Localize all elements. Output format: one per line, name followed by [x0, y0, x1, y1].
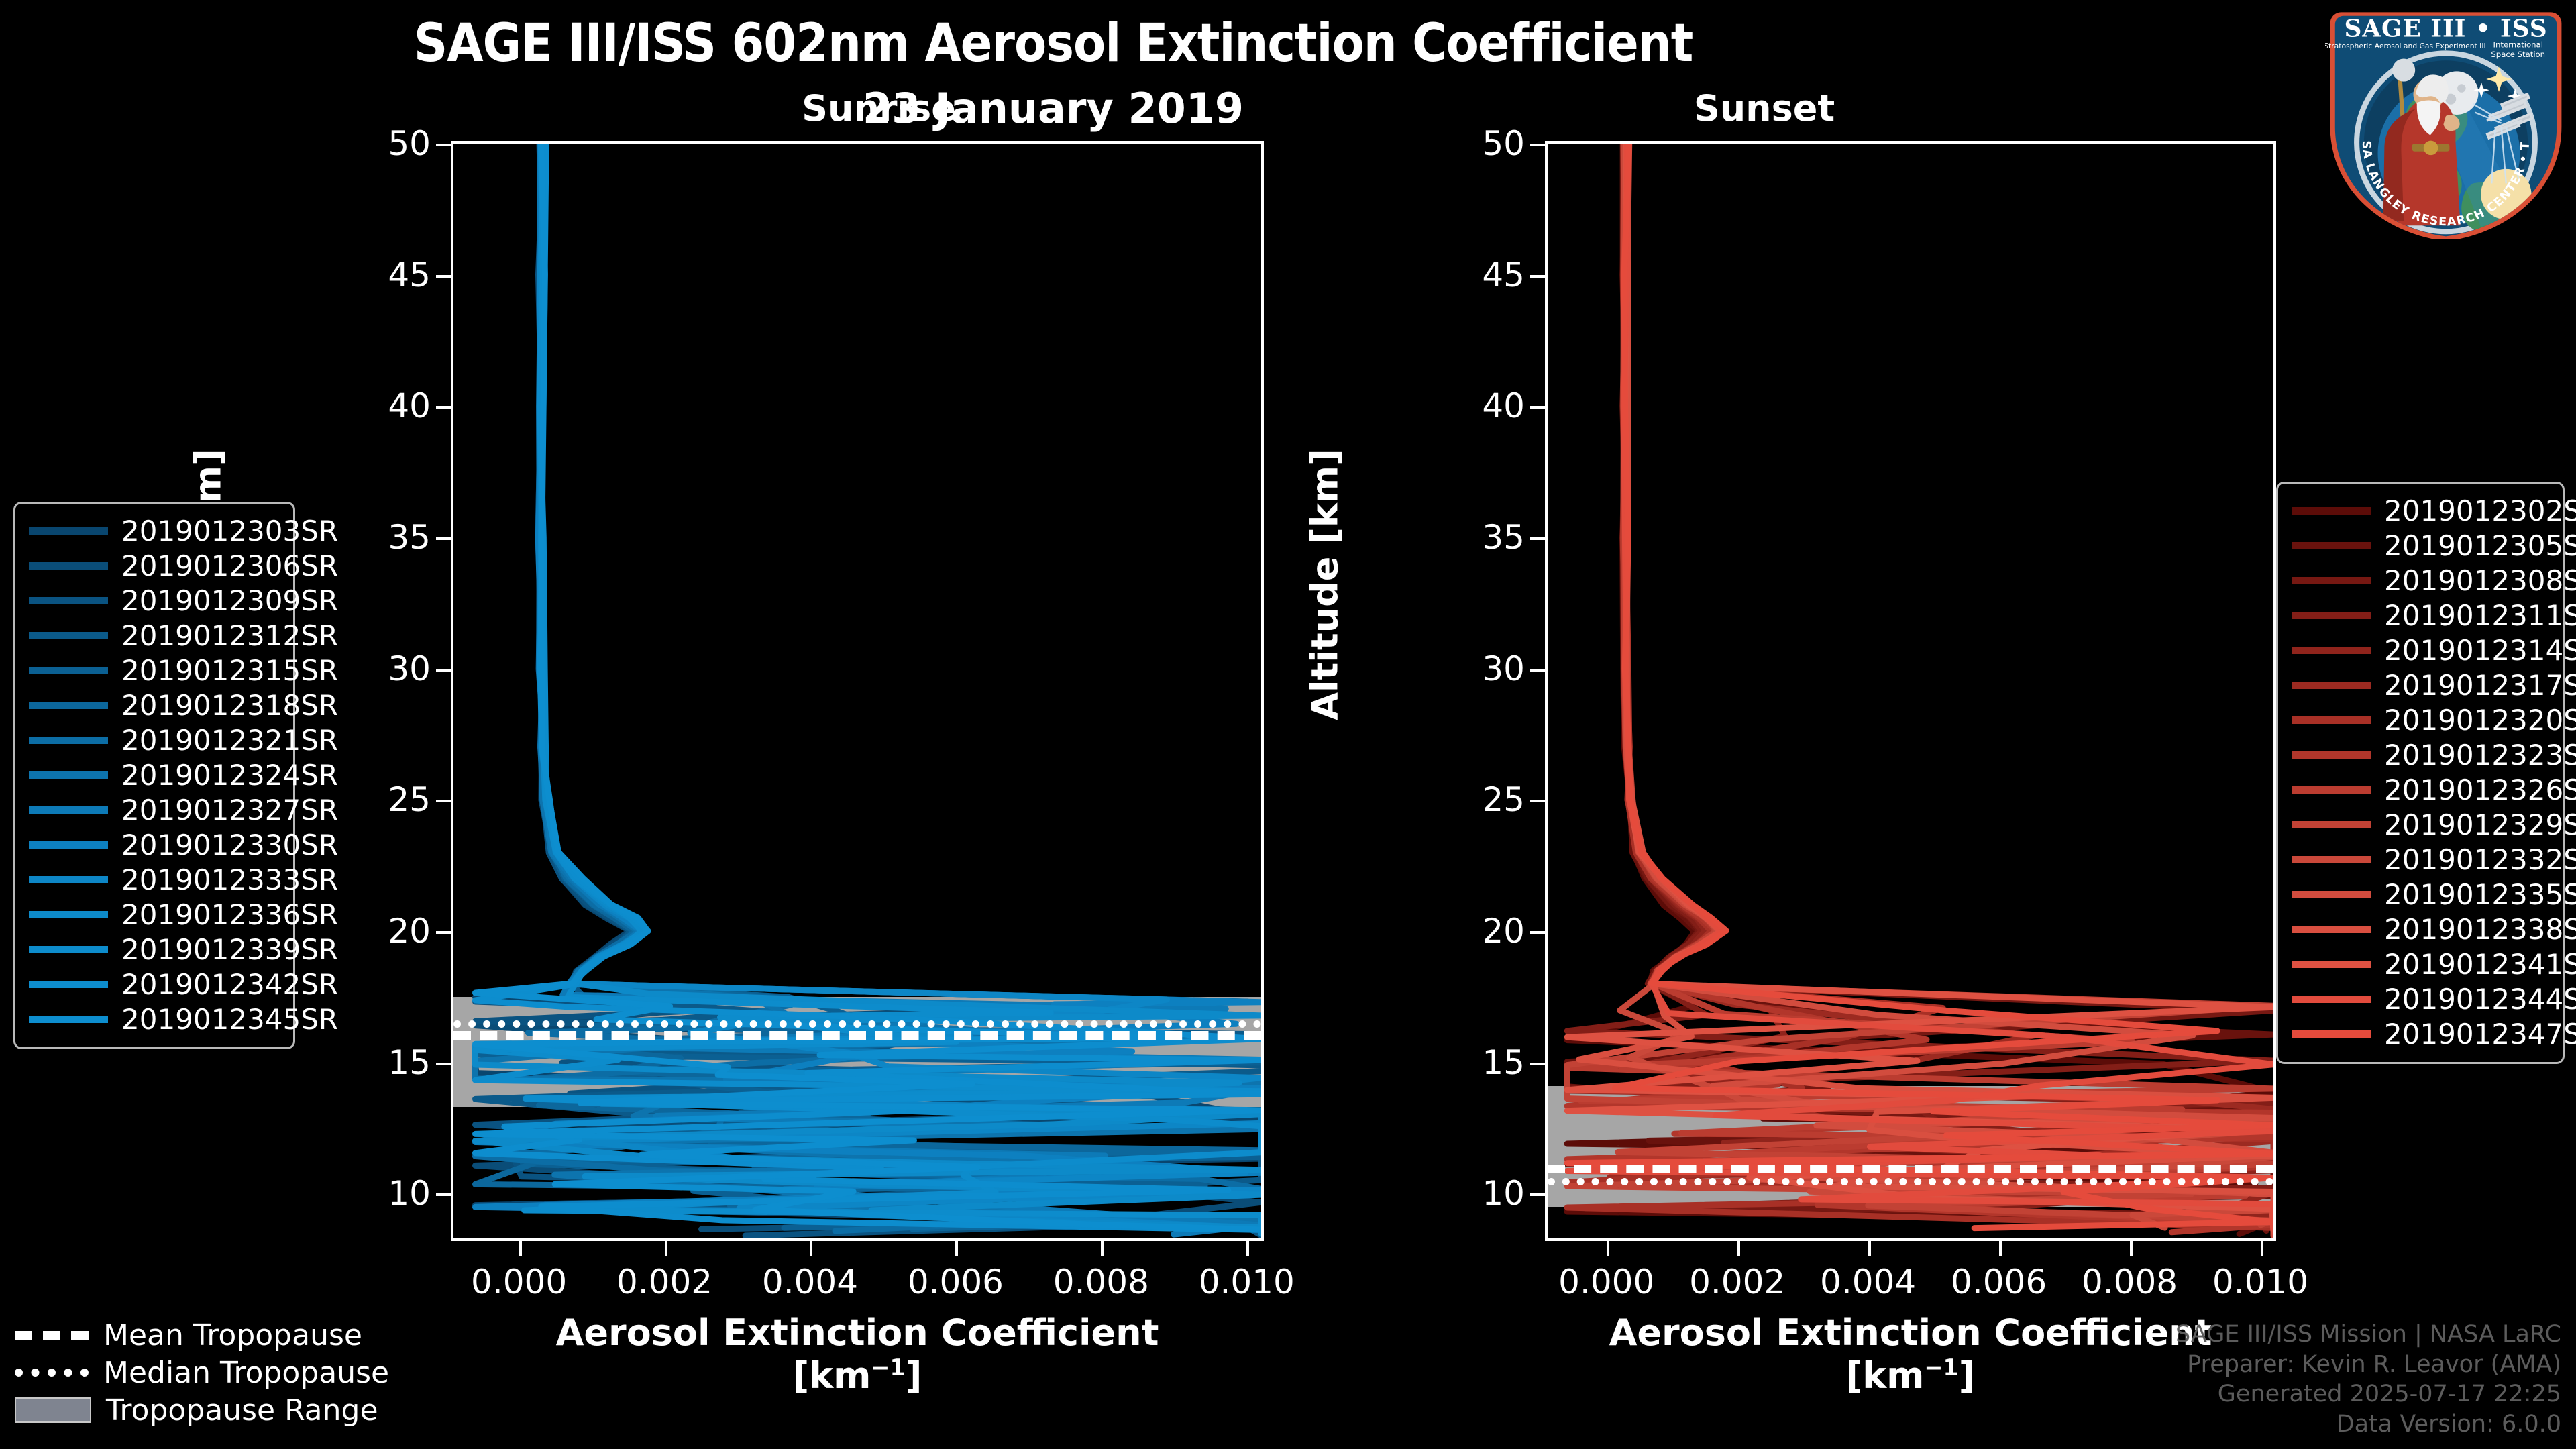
y-tick-label: 50 — [1391, 124, 1525, 163]
x-axis-title-text-sunrise: Aerosol Extinction Coefficient — [556, 1311, 1159, 1354]
gray-patch-icon — [15, 1397, 91, 1423]
plot-axes-sunset: 1015202530354045500.0000.0020.0040.0060.… — [1545, 141, 2276, 1241]
legend-color-swatch — [29, 562, 108, 570]
legend-item[interactable]: 2019012330SR — [29, 827, 280, 862]
y-tick-mark — [1530, 537, 1548, 540]
median-tropopause-line — [1548, 1178, 2273, 1185]
y-tick-label: 30 — [1391, 649, 1525, 688]
legend-item-label: 2019012318SR — [121, 689, 338, 722]
legend-color-swatch — [2292, 612, 2371, 619]
legend-item[interactable]: 2019012314SS — [2292, 633, 2549, 667]
legend-sunset[interactable]: 2019012302SS2019012305SS2019012308SS2019… — [2276, 482, 2565, 1064]
legend-color-swatch — [29, 876, 108, 883]
legend-item-label: 2019012329SS — [2384, 808, 2576, 841]
logo-subtitle-right-2: Space Station — [2491, 50, 2545, 59]
legend-color-swatch — [2292, 542, 2371, 549]
legend-item-label: 2019012335SS — [2384, 878, 2576, 911]
legend-color-swatch — [2292, 926, 2371, 933]
legend-item-mean-tropopause: Mean Tropopause — [15, 1316, 390, 1354]
y-tick-mark — [1530, 1063, 1548, 1065]
legend-item-label: 2019012341SS — [2384, 948, 2576, 981]
legend-color-swatch — [2292, 647, 2371, 654]
x-tick-label: 0.010 — [1199, 1263, 1295, 1301]
legend-tropopause: Mean Tropopause Median Tropopause Tropop… — [15, 1316, 390, 1429]
x-tick-mark — [955, 1238, 958, 1256]
x-tick-mark — [2261, 1238, 2263, 1256]
y-tick-label: 50 — [297, 124, 431, 163]
x-tick-mark — [1101, 1238, 1104, 1256]
x-tick-label: 0.002 — [616, 1263, 712, 1301]
legend-color-swatch — [2292, 716, 2371, 724]
credits-line-preparer: Preparer: Kevin R. Leavor (AMA) — [2176, 1350, 2561, 1380]
mean-tropopause-line — [1548, 1165, 2273, 1173]
legend-item[interactable]: 2019012312SR — [29, 618, 280, 653]
x-tick-mark — [519, 1238, 522, 1256]
dotted-line-icon — [15, 1368, 89, 1377]
legend-item[interactable]: 2019012335SS — [2292, 877, 2549, 912]
logo-subtitle-left: Stratospheric Aerosol and Gas Experiment… — [2325, 42, 2486, 50]
legend-color-swatch — [29, 667, 108, 674]
legend-color-swatch — [2292, 856, 2371, 863]
legend-color-swatch — [2292, 507, 2371, 515]
legend-item[interactable]: 2019012323SS — [2292, 737, 2549, 772]
legend-item-label: 2019012306SR — [121, 549, 338, 582]
y-tick-mark — [1530, 406, 1548, 409]
y-tick-label: 10 — [297, 1174, 431, 1213]
plot-axes-sunrise: 1015202530354045500.0000.0020.0040.0060.… — [451, 141, 1264, 1241]
legend-item[interactable]: 2019012333SR — [29, 862, 280, 897]
legend-item-label: 2019012336SR — [121, 898, 338, 931]
legend-item-label: 2019012324SR — [121, 759, 338, 792]
y-tick-mark — [436, 931, 453, 934]
y-tick-label: 40 — [1391, 386, 1525, 425]
legend-item[interactable]: 2019012332SS — [2292, 842, 2549, 877]
x-tick-mark — [1737, 1238, 1740, 1256]
logo-subtitle-right-1: International — [2493, 40, 2543, 49]
legend-item-label: 2019012312SR — [121, 619, 338, 652]
legend-item[interactable]: 2019012306SR — [29, 548, 280, 583]
y-tick-mark — [436, 1193, 453, 1196]
profile-curves — [1548, 144, 2273, 1238]
y-tick-mark — [436, 669, 453, 672]
legend-label-median-tropopause: Median Tropopause — [103, 1356, 389, 1390]
x-tick-mark — [1246, 1238, 1249, 1256]
legend-item-label: 2019012321SR — [121, 724, 338, 757]
legend-item-label: 2019012333SR — [121, 863, 338, 896]
legend-color-swatch — [29, 597, 108, 604]
legend-item-label: 2019012330SR — [121, 828, 338, 861]
profile-curves — [453, 144, 1261, 1238]
x-tick-mark — [2130, 1238, 2133, 1256]
legend-color-swatch — [2292, 891, 2371, 898]
x-axis-title-sunrise: Aerosol Extinction Coefficient [km−1] — [451, 1311, 1264, 1397]
legend-item[interactable]: 2019012318SR — [29, 688, 280, 722]
legend-color-swatch — [29, 911, 108, 918]
legend-item-label: 2019012323SS — [2384, 739, 2576, 771]
legend-item-label: 2019012303SR — [121, 515, 338, 547]
x-tick-mark — [1607, 1238, 1609, 1256]
legend-color-swatch — [29, 771, 108, 779]
legend-item[interactable]: 2019012317SS — [2292, 667, 2549, 702]
x-tick-label: 0.008 — [2082, 1263, 2178, 1301]
legend-item[interactable]: 2019012338SS — [2292, 912, 2549, 947]
legend-label-tropopause-range: Tropopause Range — [106, 1393, 378, 1428]
y-tick-label: 10 — [1391, 1174, 1525, 1213]
legend-item-label: 2019012339SR — [121, 933, 338, 966]
legend-item[interactable]: 2019012341SS — [2292, 947, 2549, 981]
x-tick-label: 0.004 — [1820, 1263, 1916, 1301]
credits-line-version: Data Version: 6.0.0 — [2176, 1409, 2561, 1440]
plot-area-sunrise — [453, 144, 1261, 1238]
legend-item-label: 2019012302SS — [2384, 494, 2576, 527]
legend-item-label: 2019012345SR — [121, 1003, 338, 1036]
legend-item-tropopause-range: Tropopause Range — [15, 1391, 390, 1429]
legend-item-label: 2019012338SS — [2384, 913, 2576, 946]
y-tick-mark — [1530, 1193, 1548, 1196]
legend-item-label: 2019012311SS — [2384, 599, 2576, 632]
legend-item-label: 2019012308SS — [2384, 564, 2576, 597]
x-tick-label: 0.006 — [1951, 1263, 2047, 1301]
y-tick-mark — [436, 800, 453, 802]
legend-item[interactable]: 2019012342SR — [29, 967, 280, 1002]
x-axis-units-sunset: [km−1] — [1545, 1354, 2276, 1397]
y-tick-mark — [1530, 931, 1548, 934]
legend-color-swatch — [29, 946, 108, 953]
x-tick-label: 0.004 — [762, 1263, 858, 1301]
y-tick-label: 45 — [1391, 256, 1525, 294]
credits-block: SAGE III/ISS Mission | NASA LaRC Prepare… — [2176, 1320, 2561, 1440]
x-tick-label: 0.002 — [1689, 1263, 1785, 1301]
legend-color-swatch — [2292, 751, 2371, 759]
legend-item[interactable]: 2019012324SR — [29, 757, 280, 792]
legend-item[interactable]: 2019012302SS — [2292, 493, 2549, 528]
legend-item[interactable]: 2019012308SS — [2292, 563, 2549, 598]
x-axis-units-sunrise: [km−1] — [451, 1354, 1264, 1397]
x-tick-label: 0.006 — [908, 1263, 1004, 1301]
legend-item[interactable]: 2019012329SS — [2292, 807, 2549, 842]
figure-root: SAGE III/ISS 602nm Aerosol Extinction Co… — [0, 0, 2576, 1449]
legend-color-swatch — [29, 702, 108, 709]
legend-item[interactable]: 2019012315SR — [29, 653, 280, 688]
legend-color-swatch — [29, 527, 108, 535]
legend-color-swatch — [2292, 961, 2371, 968]
sage-iii-iss-logo: BALL • NASA LANGLEY RESEARCH CENTER • TA… — [2325, 3, 2567, 239]
logo-title: SAGE III • ISS — [2344, 14, 2547, 42]
y-tick-label: 15 — [1391, 1043, 1525, 1082]
page-title: SAGE III/ISS 602nm Aerosol Extinction Co… — [0, 13, 2106, 74]
x-tick-label: 0.000 — [1558, 1263, 1654, 1301]
legend-color-swatch — [29, 981, 108, 988]
y-tick-label: 20 — [1391, 912, 1525, 951]
legend-item-label: 2019012314SS — [2384, 634, 2576, 667]
y-tick-mark — [436, 144, 453, 146]
legend-color-swatch — [2292, 682, 2371, 689]
legend-item-label: 2019012317SS — [2384, 669, 2576, 702]
x-tick-label: 0.000 — [471, 1263, 567, 1301]
y-tick-mark — [436, 275, 453, 278]
legend-item-label: 2019012320SS — [2384, 704, 2576, 737]
legend-item[interactable]: 2019012305SS — [2292, 528, 2549, 563]
legend-color-swatch — [29, 806, 108, 814]
legend-item[interactable]: 2019012339SR — [29, 932, 280, 967]
y-tick-label: 35 — [1391, 518, 1525, 557]
legend-color-swatch — [2292, 577, 2371, 584]
legend-item-label: 2019012309SR — [121, 584, 338, 617]
legend-item[interactable]: 2019012345SR — [29, 1002, 280, 1036]
legend-item[interactable]: 2019012344SS — [2292, 981, 2549, 1016]
legend-label-mean-tropopause: Mean Tropopause — [103, 1318, 362, 1352]
legend-item-label: 2019012332SS — [2384, 843, 2576, 876]
y-tick-mark — [1530, 800, 1548, 802]
legend-item[interactable]: 2019012327SR — [29, 792, 280, 827]
legend-item-label: 2019012315SR — [121, 654, 338, 687]
plot-area-sunset — [1548, 144, 2273, 1238]
y-tick-label: 15 — [297, 1043, 431, 1082]
legend-item-label: 2019012344SS — [2384, 983, 2576, 1016]
mean-tropopause-line — [453, 1031, 1261, 1040]
x-tick-mark — [665, 1238, 667, 1256]
y-tick-mark — [1530, 669, 1548, 672]
legend-item[interactable]: 2019012321SR — [29, 722, 280, 757]
legend-item[interactable]: 2019012326SS — [2292, 772, 2549, 807]
x-tick-mark — [1999, 1238, 2002, 1256]
legend-item-label: 2019012305SS — [2384, 529, 2576, 562]
y-tick-mark — [1530, 144, 1548, 146]
y-tick-label: 25 — [1391, 780, 1525, 819]
y-tick-label: 45 — [297, 256, 431, 294]
x-tick-mark — [1868, 1238, 1871, 1256]
legend-color-swatch — [29, 841, 108, 849]
x-tick-label: 0.010 — [2212, 1263, 2308, 1301]
panel-title-sunset: Sunset — [1597, 87, 1932, 129]
x-axis-title-text-sunset: Aerosol Extinction Coefficient — [1609, 1311, 2212, 1354]
legend-color-swatch — [2292, 786, 2371, 794]
legend-color-swatch — [2292, 1030, 2371, 1038]
legend-color-swatch — [29, 632, 108, 639]
legend-sunrise[interactable]: 2019012303SR2019012306SR2019012309SR2019… — [13, 502, 295, 1049]
x-tick-mark — [810, 1238, 812, 1256]
legend-item-median-tropopause: Median Tropopause — [15, 1354, 390, 1391]
legend-item[interactable]: 2019012309SR — [29, 583, 280, 618]
x-axis-title-sunset: Aerosol Extinction Coefficient [km−1] — [1545, 1311, 2276, 1397]
x-tick-label: 0.008 — [1053, 1263, 1149, 1301]
dashed-line-icon — [15, 1331, 89, 1340]
median-tropopause-line — [453, 1020, 1261, 1028]
legend-item[interactable]: 2019012320SS — [2292, 702, 2549, 737]
legend-color-swatch — [29, 737, 108, 744]
legend-item[interactable]: 2019012311SS — [2292, 598, 2549, 633]
y-axis-title-sunset: Altitude [km] — [1304, 417, 1346, 753]
y-tick-mark — [436, 406, 453, 409]
y-tick-label: 40 — [297, 386, 431, 425]
credits-line-generated: Generated 2025-07-17 22:25 — [2176, 1379, 2561, 1409]
legend-item[interactable]: 2019012336SR — [29, 897, 280, 932]
legend-item[interactable]: 2019012303SR — [29, 513, 280, 548]
credits-line-mission: SAGE III/ISS Mission | NASA LaRC — [2176, 1320, 2561, 1350]
y-tick-mark — [1530, 275, 1548, 278]
legend-item-label: 2019012342SR — [121, 968, 338, 1001]
y-tick-mark — [436, 537, 453, 540]
legend-item-label: 2019012326SS — [2384, 773, 2576, 806]
legend-item[interactable]: 2019012347SS — [2292, 1016, 2549, 1051]
legend-item-label: 2019012347SS — [2384, 1018, 2576, 1051]
legend-color-swatch — [2292, 996, 2371, 1003]
y-tick-mark — [436, 1063, 453, 1065]
panel-title-sunrise: Sunrise — [711, 87, 1046, 129]
legend-color-swatch — [29, 1016, 108, 1023]
legend-item-label: 2019012327SR — [121, 794, 338, 826]
legend-color-swatch — [2292, 821, 2371, 828]
